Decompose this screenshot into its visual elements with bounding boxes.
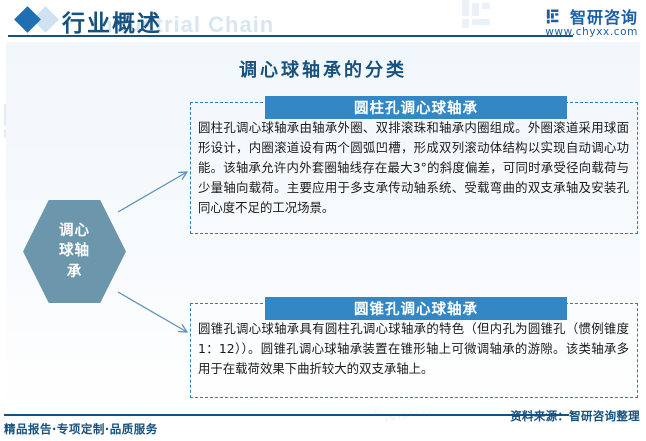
brand-logo: 智研咨询: [546, 4, 638, 28]
card-cylindrical-bore[interactable]: 圆柱孔调心球轴承由轴承外圈、双排滚珠和轴承内圈组成。外圈滚道采用球面形设计，内圈…: [190, 102, 638, 234]
slide-root: 智研咨询 INTELLIGENCE RESEARCH GROUP 智研咨询 IN…: [0, 0, 646, 441]
hexagon-label-line-3: 承: [67, 262, 83, 283]
diamond-icon: [14, 6, 41, 33]
footer-divider: [4, 414, 569, 416]
hexagon-label-line-2: 球轴: [59, 241, 90, 262]
brand-name: 智研咨询: [570, 4, 638, 28]
brand-url: www.chyxx.com: [545, 26, 638, 38]
page-title: 行业概述: [62, 4, 162, 38]
card-heading-cylindrical-bore[interactable]: 圆柱孔调心球轴承: [265, 96, 567, 119]
footer-source: 资料来源：智研咨询整理: [510, 408, 640, 424]
card-heading-tapered-bore[interactable]: 圆锥孔调心球轴承: [265, 297, 567, 320]
hexagon-label-line-1: 调心: [59, 221, 90, 242]
footer-slogan: 精品报告·专项定制·品质服务: [4, 421, 158, 437]
panel-title: 调心球轴承的分类: [6, 56, 640, 82]
zhiyan-logo-icon: [546, 7, 565, 26]
card-body-text-1: 圆柱孔调心球轴承由轴承外圈、双排滚珠和轴承内圈组成。外圈滚道采用球面形设计，内圈…: [191, 103, 637, 224]
